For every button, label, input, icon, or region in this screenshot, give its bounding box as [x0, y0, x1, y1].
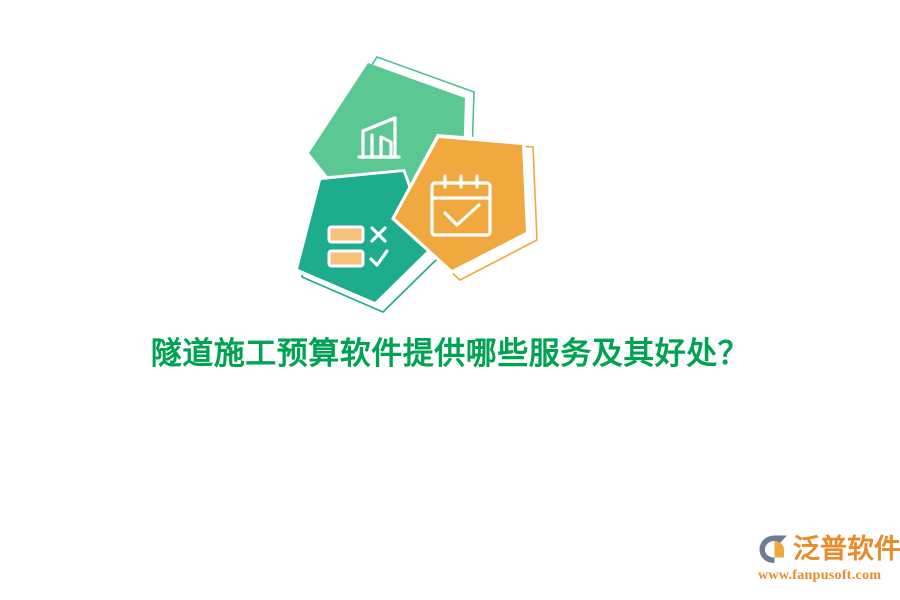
brand-logo[interactable]: 泛普软件 www.fanpusoft.com — [757, 530, 892, 590]
brand-name: 泛普软件 — [793, 534, 900, 564]
logo-row: 泛普软件 — [757, 530, 892, 568]
hero-illustration — [255, 35, 555, 325]
page-root: 隧道施工预算软件提供哪些服务及其好处？ 泛普软件 www.fanpusoft.c… — [0, 0, 900, 600]
fanpu-logo-mark-icon — [757, 533, 791, 565]
page-title: 隧道施工预算软件提供哪些服务及其好处？ — [0, 334, 900, 374]
brand-url: www.fanpusoft.com — [757, 568, 892, 584]
